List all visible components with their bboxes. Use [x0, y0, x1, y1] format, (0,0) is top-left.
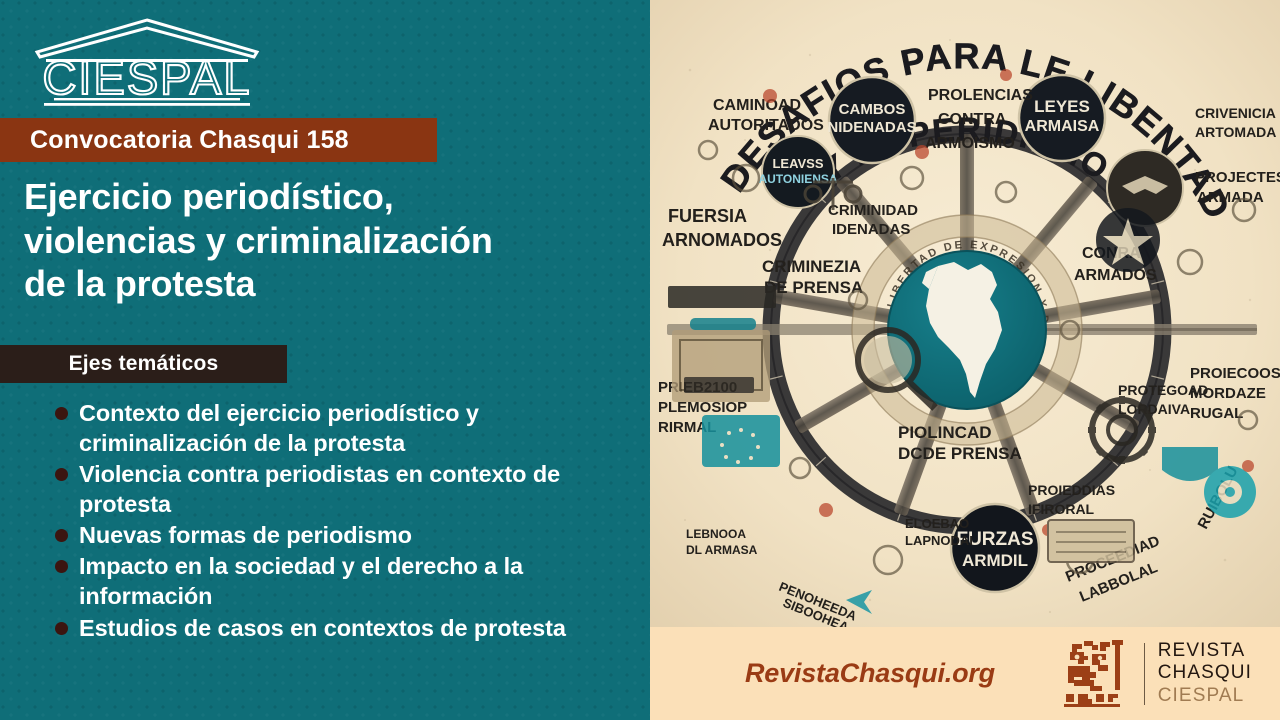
svg-text:ARTOMADA: ARTOMADA [1195, 124, 1276, 140]
page-title-line-1: Ejercicio periodístico, [24, 175, 634, 219]
svg-text:LAPNODAI: LAPNODAI [905, 533, 973, 548]
svg-text:ELOEBAO: ELOEBAO [905, 516, 969, 531]
bullet-dot-icon [55, 622, 68, 635]
page-title: Ejercicio periodístico, violencias y cri… [24, 175, 634, 306]
svg-text:ARMOISMO: ARMOISMO [925, 135, 1015, 152]
revista-chasqui-logo: REVISTA CHASQUI CIESPAL [1060, 636, 1252, 712]
themes-list: Contexto del ejercicio periodístico y cr… [55, 398, 640, 644]
svg-text:DE PRENSA: DE PRENSA [764, 278, 863, 297]
bullet-dot-icon [55, 468, 68, 481]
svg-text:CRIMINIDAD: CRIMINIDAD [828, 202, 918, 219]
ciespal-logo: CIESPAL [32, 14, 262, 106]
wordmark-line-revista: REVISTA [1158, 640, 1252, 662]
svg-text:RUGAL: RUGAL [1190, 405, 1243, 422]
svg-text:LEAVSS: LEAVSS [772, 156, 823, 171]
list-item-label: Estudios de casos en contextos de protes… [79, 613, 566, 643]
svg-text:ARMAISA: ARMAISA [1025, 118, 1100, 135]
circular-infographic-illustration: LIBERTAD DE EXPRESION Y DEMOCRACIA LIBER… [650, 0, 1280, 627]
list-item-label: Violencia contra periodistas en contexto… [79, 459, 640, 519]
left-content-panel: CIESPAL Convocatoria Chasqui 158 Ejercic… [0, 0, 650, 720]
list-item: Violencia contra periodistas en contexto… [55, 459, 640, 519]
page-title-line-3: de la protesta [24, 262, 634, 306]
svg-text:DCDE PRENSA: DCDE PRENSA [898, 444, 1022, 463]
svg-text:IFIRORAL: IFIRORAL [1028, 501, 1095, 517]
bullet-dot-icon [55, 560, 68, 573]
svg-text:ARMDIL: ARMDIL [962, 551, 1028, 570]
svg-text:AUTONIENSA: AUTONIENSA [758, 172, 837, 186]
svg-text:ARMADOS: ARMADOS [1074, 267, 1157, 284]
svg-text:CRIMINEZIA: CRIMINEZIA [762, 257, 861, 276]
poster-root: CIESPAL Convocatoria Chasqui 158 Ejercic… [0, 0, 1280, 720]
section-heading-label: Ejes temáticos [69, 352, 219, 376]
bullet-dot-icon [55, 529, 68, 542]
svg-text:PROJECTES: PROJECTES [1195, 169, 1280, 186]
list-item-label: Nuevas formas de periodismo [79, 520, 412, 550]
section-heading-box: Ejes temáticos [0, 345, 287, 383]
list-item: Contexto del ejercicio periodístico y cr… [55, 398, 640, 458]
svg-text:MORDAZE: MORDAZE [1190, 385, 1266, 402]
revista-chasqui-wordmark: REVISTA CHASQUI CIESPAL [1158, 640, 1252, 707]
convocatoria-banner: Convocatoria Chasqui 158 [0, 118, 437, 162]
svg-text:DL ARMASA: DL ARMASA [686, 543, 758, 557]
revista-chasqui-url[interactable]: RevistaChasqui.org [745, 658, 995, 689]
chasqui-figure-icon [1060, 636, 1136, 712]
svg-text:CAMINOAD: CAMINOAD [713, 97, 801, 114]
bullet-dot-icon [55, 407, 68, 420]
svg-text:CRIVENICIA: CRIVENICIA [1195, 105, 1276, 121]
logo-divider [1144, 643, 1145, 705]
svg-text:PROLENCIAS: PROLENCIAS [928, 87, 1033, 104]
list-item-label: Contexto del ejercicio periodístico y cr… [79, 398, 640, 458]
wordmark-line-chasqui: CHASQUI [1158, 662, 1252, 684]
page-title-line-2: violencias y criminalización [24, 219, 634, 263]
svg-text:CAMBOS: CAMBOS [839, 101, 906, 118]
svg-text:ARNOMADOS: ARNOMADOS [662, 230, 782, 250]
svg-text:IDENADAS: IDENADAS [832, 221, 910, 238]
svg-text:LEYES: LEYES [1034, 97, 1090, 116]
wordmark-line-ciespal: CIESPAL [1158, 685, 1252, 707]
svg-text:LEBNOOA: LEBNOOA [686, 527, 746, 541]
footer-bar: RevistaChasqui.org [650, 627, 1280, 720]
svg-text:PROIEDDIAS: PROIEDDIAS [1028, 482, 1115, 498]
list-item: Estudios de casos en contextos de protes… [55, 613, 640, 643]
list-item: Impacto en la sociedad y el derecho a la… [55, 551, 640, 611]
svg-text:CONTRA: CONTRA [938, 111, 1007, 128]
svg-text:CIESPAL: CIESPAL [42, 51, 251, 104]
list-item: Nuevas formas de periodismo [55, 520, 640, 550]
convocatoria-label: Convocatoria Chasqui 158 [0, 126, 349, 155]
svg-text:PIOLINCAD: PIOLINCAD [898, 423, 992, 442]
svg-text:PROIECOOS: PROIECOOS [1190, 365, 1280, 382]
list-item-label: Impacto en la sociedad y el derecho a la… [79, 551, 640, 611]
svg-text:NIDENADAS: NIDENADAS [827, 119, 916, 136]
svg-text:FUERSIA: FUERSIA [668, 206, 747, 226]
svg-text:AUTORITADOS: AUTORITADOS [708, 117, 824, 134]
